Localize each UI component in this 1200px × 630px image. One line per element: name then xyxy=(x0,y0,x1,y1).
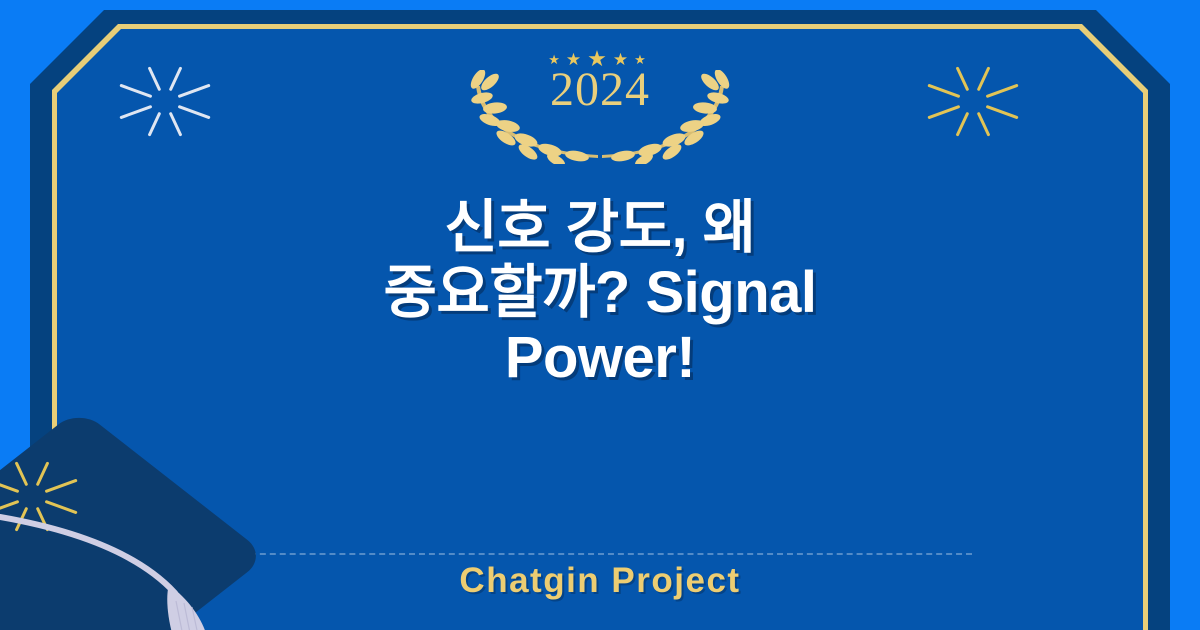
sparkle-ray xyxy=(178,105,211,119)
sparkle-ray xyxy=(986,105,1019,119)
graduation-cap-icon xyxy=(0,425,320,630)
title-line: 중요할까? Signal xyxy=(383,260,816,325)
sparkle-ray xyxy=(119,84,152,98)
share-card-canvas: ★★★★★ 2024 xyxy=(0,0,1200,630)
sparkle-ray xyxy=(169,66,183,91)
sparkle-ray xyxy=(169,112,183,137)
laurel-wreath-badge: ★★★★★ 2024 xyxy=(460,44,740,164)
sparkle-ray xyxy=(927,84,960,98)
laurel-wreath-icon xyxy=(460,70,740,164)
page-title: 신호 강도, 왜 중요할까? Signal Power! xyxy=(57,196,1143,391)
sparkle-ray xyxy=(956,66,970,91)
sparkle-ray xyxy=(977,66,991,91)
sparkle-burst-gold-icon xyxy=(918,50,1028,150)
sparkle-ray xyxy=(148,112,162,137)
sparkle-ray xyxy=(986,84,1019,98)
sparkle-ray xyxy=(148,66,162,91)
sparkle-ray xyxy=(178,84,211,98)
sparkle-ray xyxy=(977,112,991,137)
title-line: 신호 강도, 왜 xyxy=(444,195,755,260)
title-line: Power! xyxy=(505,325,695,390)
sparkle-ray xyxy=(927,105,960,119)
sparkle-ray xyxy=(119,105,152,119)
cap-tassel-icon xyxy=(0,425,320,630)
sparkle-ray xyxy=(956,112,970,137)
dashed-divider xyxy=(230,553,972,555)
sparkle-burst-white-icon xyxy=(110,50,220,150)
